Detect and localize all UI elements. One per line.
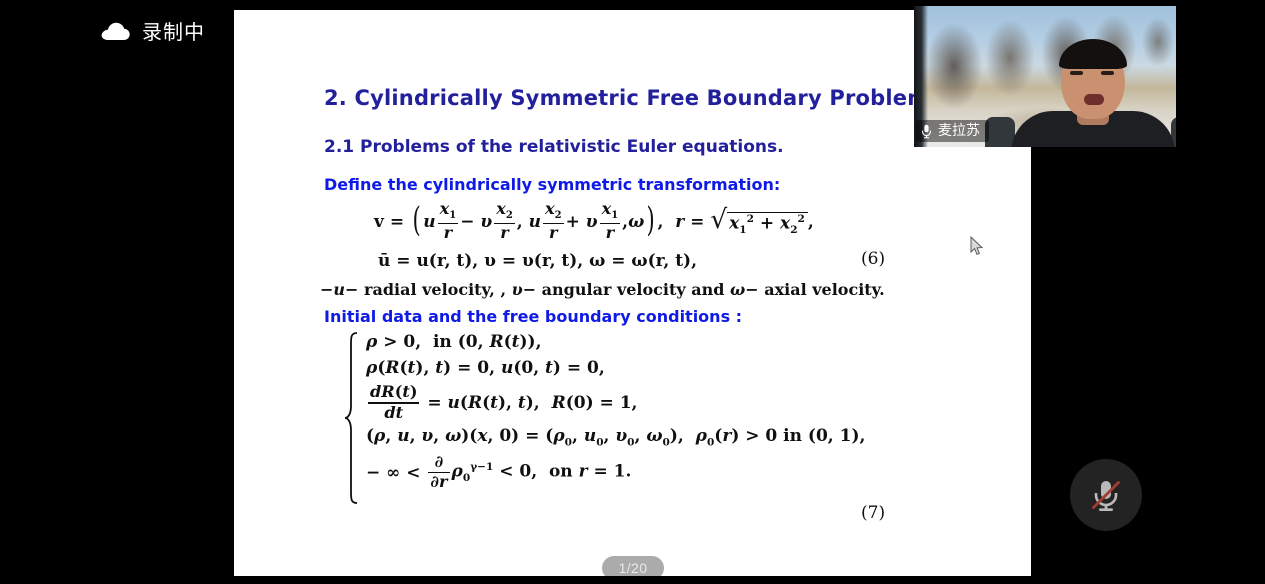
slide-content: 2. Cylindrically Symmetric Free Boundary… bbox=[234, 10, 1031, 576]
participant-name-badge: 麦拉苏 bbox=[916, 120, 989, 142]
velocity-note-p1: − bbox=[320, 280, 333, 299]
velocity-note-p4: − axial velocity. bbox=[745, 280, 884, 299]
microphone-icon bbox=[921, 124, 932, 139]
participant-video-tile[interactable]: 麦拉苏 bbox=[914, 6, 1176, 147]
cloud-icon bbox=[100, 22, 132, 42]
initial-data-heading: Initial data and the free boundary condi… bbox=[324, 307, 742, 326]
participant-name: 麦拉苏 bbox=[938, 124, 980, 138]
equation-6-line-1: v = (ux1r− υx2r, ux2r+ υx1r,ω), r = √x12… bbox=[374, 202, 814, 243]
equation-7-line-5: − ∞ < ∂∂r ρ0γ−1 < 0, on r = 1. bbox=[366, 454, 865, 492]
recording-indicator: 录制中 bbox=[100, 22, 205, 42]
equation-6-number: (6) bbox=[861, 249, 885, 269]
velocity-note-v: υ bbox=[512, 280, 523, 299]
equation-6-line-2: ū = u(r, t), υ = υ(r, t), ω = ω(r, t), bbox=[378, 253, 814, 271]
mute-button[interactable] bbox=[1070, 459, 1142, 531]
presentation-slide[interactable]: 2. Cylindrically Symmetric Free Boundary… bbox=[234, 10, 1031, 576]
equation-7-line-3: dR(t)dt = u(R(t), t), R(0) = 1, bbox=[366, 384, 865, 422]
equation-6: v = (ux1r− υx2r, ux2r+ υx1r,ω), r = √x12… bbox=[374, 202, 814, 271]
equation-7: ρ > 0, in (0, R(t)), ρ(R(t), t) = 0, u(0… bbox=[344, 332, 865, 504]
equation-7-lines: ρ > 0, in (0, R(t)), ρ(R(t), t) = 0, u(0… bbox=[366, 332, 865, 504]
participant-figure bbox=[1039, 49, 1147, 147]
meeting-window: 录制中 2. Cylindrically Symmetric Free Boun… bbox=[0, 0, 1265, 584]
equation-7-line-4: (ρ, u, υ, ω)(x, 0) = (ρ0, u0, υ0, ω0), ρ… bbox=[366, 426, 865, 448]
eye-right bbox=[1101, 71, 1114, 75]
slide-subtitle: 2.1 Problems of the relativistic Euler e… bbox=[324, 137, 784, 157]
velocity-note-w: ω bbox=[730, 280, 745, 299]
velocity-note-u: u bbox=[333, 280, 345, 299]
chair-left bbox=[985, 117, 1015, 147]
velocity-note: −u− radial velocity, , υ− angular veloci… bbox=[320, 280, 885, 299]
slide-title: 2. Cylindrically Symmetric Free Boundary… bbox=[324, 86, 937, 110]
equation-7-line-2: ρ(R(t), t) = 0, u(0, t) = 0, bbox=[366, 358, 865, 378]
recording-label: 录制中 bbox=[142, 22, 205, 42]
equation-7-number: (7) bbox=[861, 503, 885, 523]
equation-7-line-1: ρ > 0, in (0, R(t)), bbox=[366, 332, 865, 352]
velocity-note-p2: − radial velocity, , bbox=[345, 280, 512, 299]
mouth bbox=[1084, 94, 1104, 105]
eye-left bbox=[1070, 71, 1083, 75]
page-indicator[interactable]: 1/20 bbox=[602, 556, 664, 576]
velocity-note-p3: − angular velocity and bbox=[523, 280, 730, 299]
left-brace-icon bbox=[344, 332, 360, 504]
define-heading: Define the cylindrically symmetric trans… bbox=[324, 175, 780, 194]
